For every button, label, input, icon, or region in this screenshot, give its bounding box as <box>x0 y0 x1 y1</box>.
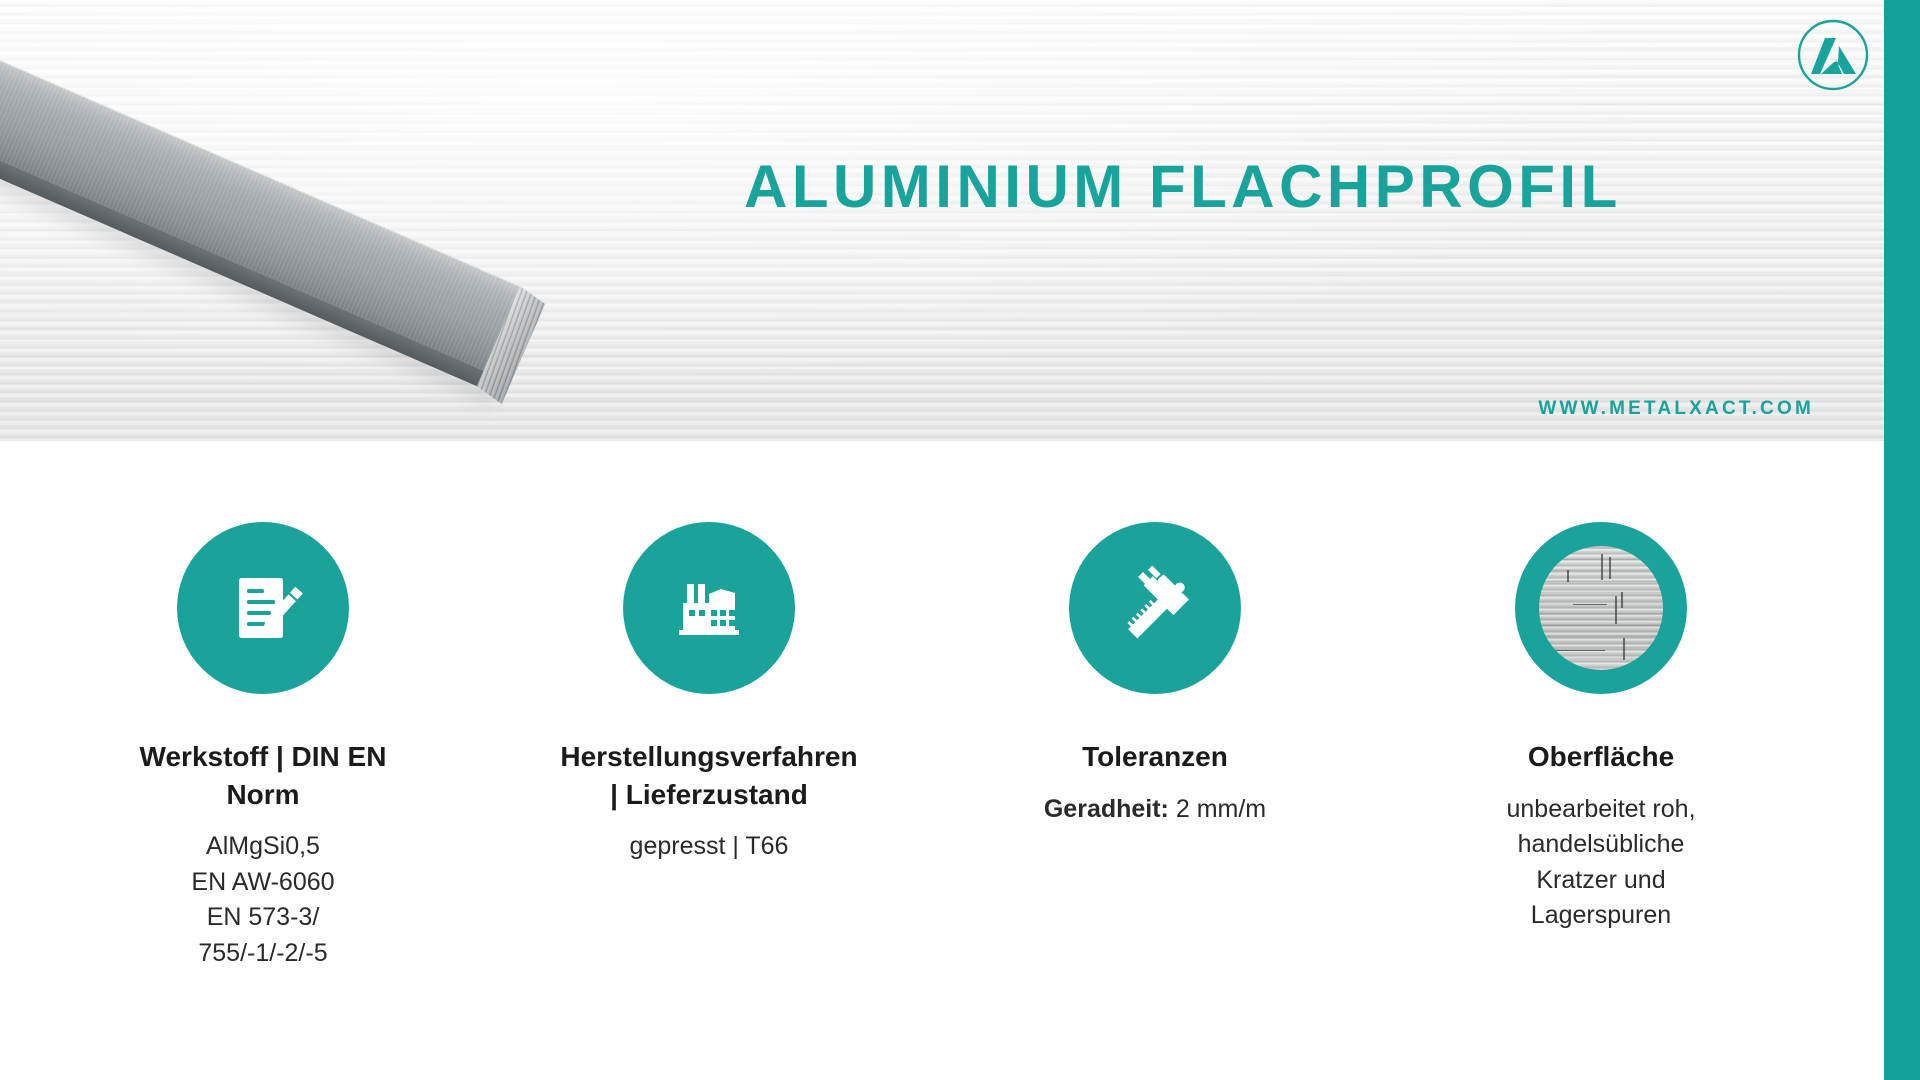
card-body: gepresst | T66 <box>630 829 789 865</box>
card-body-line: EN AW-6060 <box>191 865 334 901</box>
caliper-icon <box>1069 522 1241 694</box>
card-body-line: Lagerspuren <box>1506 898 1695 934</box>
card-body: Geradheit: 2 mm/m <box>1044 792 1266 828</box>
card-title: Oberfläche <box>1528 738 1674 776</box>
tolerance-label: Geradheit: <box>1044 795 1169 823</box>
website-url: WWW.METALXACT.COM <box>1538 398 1814 420</box>
card-herstellungsverfahren: Herstellungsverfahren | Lieferzustand ge… <box>486 522 932 1042</box>
card-body-line: AlMgSi0,5 <box>191 829 334 865</box>
surface-texture-icon <box>1515 522 1687 694</box>
hero-banner: ALUMINIUM FLACHPROFIL WWW.METALXACT.COM <box>0 0 1884 441</box>
card-title: Herstellungsverfahren | Lieferzustand <box>559 738 859 813</box>
surface-texture-swatch <box>1539 546 1663 670</box>
card-toleranzen: Toleranzen Geradheit: 2 mm/m <box>932 522 1378 1042</box>
card-body-line: EN 573-3/ <box>191 900 334 936</box>
card-body-line: 755/-1/-2/-5 <box>191 936 334 972</box>
tolerance-value: 2 mm/m <box>1176 795 1266 823</box>
card-body-line: unbearbeitet roh, <box>1506 792 1695 828</box>
card-body-line: gepresst | T66 <box>630 829 789 865</box>
card-body-line: handelsübliche <box>1506 827 1695 863</box>
document-pencil-icon <box>177 522 349 694</box>
page-title: ALUMINIUM FLACHPROFIL <box>744 152 1622 221</box>
card-title: Toleranzen <box>1082 738 1228 776</box>
logo-mark-icon <box>1794 16 1872 94</box>
card-oberflaeche: Oberfläche unbearbeitet roh, handelsübli… <box>1378 522 1824 1042</box>
metalxact-logo[interactable] <box>1794 16 1872 94</box>
feature-cards: Werkstoff | DIN EN Norm AlMgSi0,5 EN AW-… <box>0 522 1884 1042</box>
card-title: Werkstoff | DIN EN Norm <box>113 738 413 813</box>
card-werkstoff: Werkstoff | DIN EN Norm AlMgSi0,5 EN AW-… <box>40 522 486 1042</box>
card-body: unbearbeitet roh, handelsübliche Kratzer… <box>1506 792 1695 934</box>
right-accent-bar <box>1884 0 1920 1080</box>
factory-icon <box>623 522 795 694</box>
card-body-line: Kratzer und <box>1506 863 1695 899</box>
product-spec-page: ALUMINIUM FLACHPROFIL WWW.METALXACT.COM <box>0 0 1920 1080</box>
card-body: AlMgSi0,5 EN AW-6060 EN 573-3/ 755/-1/-2… <box>191 829 334 971</box>
